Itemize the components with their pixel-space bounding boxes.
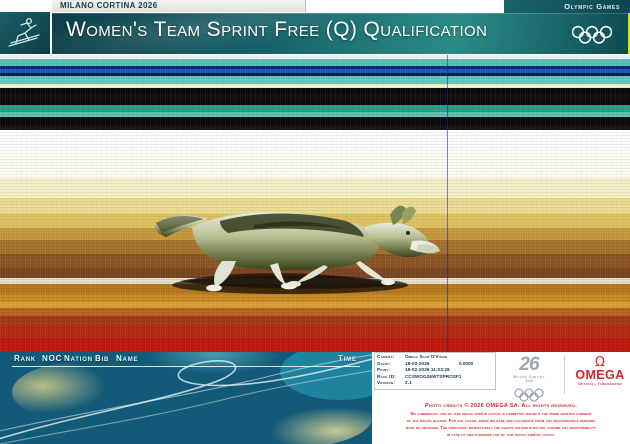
- info-value: CCSWOG26WTSPROSF1: [405, 374, 462, 379]
- omega-tagline: Official Timekeeper: [572, 382, 628, 386]
- info-key: Version:: [377, 380, 395, 385]
- info-key: Print:: [377, 367, 390, 372]
- omega-logo: Ω OMEGA Official Timekeeper: [572, 356, 628, 386]
- info-value-secondary: 0.0000: [459, 361, 473, 366]
- credits-title: Photo credits © 2026 OMEGA SA. All right…: [374, 402, 628, 410]
- results-table-body: [0, 370, 372, 440]
- header: MILANO CORTINA 2026 Olympic Games Women'…: [0, 0, 630, 55]
- info-key: Start:: [377, 361, 391, 366]
- camera-info-row: Start:18-02-20260.0000: [377, 361, 492, 368]
- info-value: 2.1: [405, 380, 412, 385]
- title-bar: Women's Team Sprint Free (Q) Qualificati…: [52, 13, 628, 54]
- games-year: 2026: [500, 379, 558, 383]
- info-panel: Camera:Omega Scan'O'VisionStart:18-02-20…: [372, 352, 630, 444]
- header-rule: [12, 366, 360, 367]
- event-tab-label: MILANO CORTINA 2026: [60, 1, 158, 10]
- camera-info-row: Version:2.1: [377, 380, 492, 387]
- games-tab: Olympic Games: [504, 0, 630, 14]
- sport-pictogram-badge: [0, 12, 50, 54]
- column-header-name: Name: [116, 354, 138, 363]
- camera-info-row: Race ID:CCSWOG26WTSPROSF1: [377, 374, 492, 381]
- olympic-rings-icon: [570, 25, 614, 44]
- info-key: Camera:: [377, 354, 395, 359]
- photo-finish-result-sheet: MILANO CORTINA 2026 Olympic Games Women'…: [0, 0, 630, 444]
- photo-finish-strip: [0, 55, 630, 352]
- column-header-nation: Nation: [64, 354, 93, 363]
- column-header-noc: NOC: [42, 354, 62, 363]
- info-value: 18-02-2026: [405, 361, 430, 366]
- results-panel: RankNOCNationBibNameTime: [0, 352, 372, 444]
- credits-line: must be obtained. The producer, respecti…: [374, 424, 628, 431]
- photo-credits: Photo credits © 2026 OMEGA SA. All right…: [374, 402, 628, 438]
- info-key: Race ID:: [377, 374, 396, 379]
- info-value: Omega Scan'O'Vision: [405, 354, 447, 359]
- credits-line: in case of unauthorized use of this phot…: [374, 431, 628, 438]
- camera-info-row: Camera:Omega Scan'O'Vision: [377, 354, 492, 361]
- column-header-time: Time: [338, 354, 357, 363]
- results-table-header: RankNOCNationBibNameTime: [0, 352, 372, 368]
- credits-line: of the rights holder. For any usage, pri…: [374, 417, 628, 424]
- cross-country-skier-pictogram-icon: [5, 16, 45, 50]
- timing-line: [447, 55, 448, 352]
- logo-divider: [564, 356, 565, 394]
- credits-body: No commercial use of this photo and/or l…: [374, 410, 628, 438]
- games-tab-label: Olympic Games: [564, 2, 620, 11]
- column-header-bib: Bib: [95, 354, 109, 363]
- event-tab: MILANO CORTINA 2026: [52, 0, 306, 12]
- credits-line: No commercial use of this photo and/or l…: [374, 410, 628, 417]
- camera-info-list: Camera:Omega Scan'O'VisionStart:18-02-20…: [377, 354, 492, 387]
- omega-wordmark: OMEGA: [572, 369, 628, 382]
- page-title: Women's Team Sprint Free (Q) Qualificati…: [66, 18, 487, 42]
- camera-info-row: Print:18-02-2026 11:03:26: [377, 367, 492, 374]
- column-header-rank: Rank: [14, 354, 36, 363]
- games-mark: 26: [500, 355, 558, 375]
- info-value: 18-02-2026 11:03:26: [405, 367, 450, 372]
- running-wolf-silhouette-icon: [150, 181, 440, 299]
- olympic-rings-icon: [513, 388, 545, 402]
